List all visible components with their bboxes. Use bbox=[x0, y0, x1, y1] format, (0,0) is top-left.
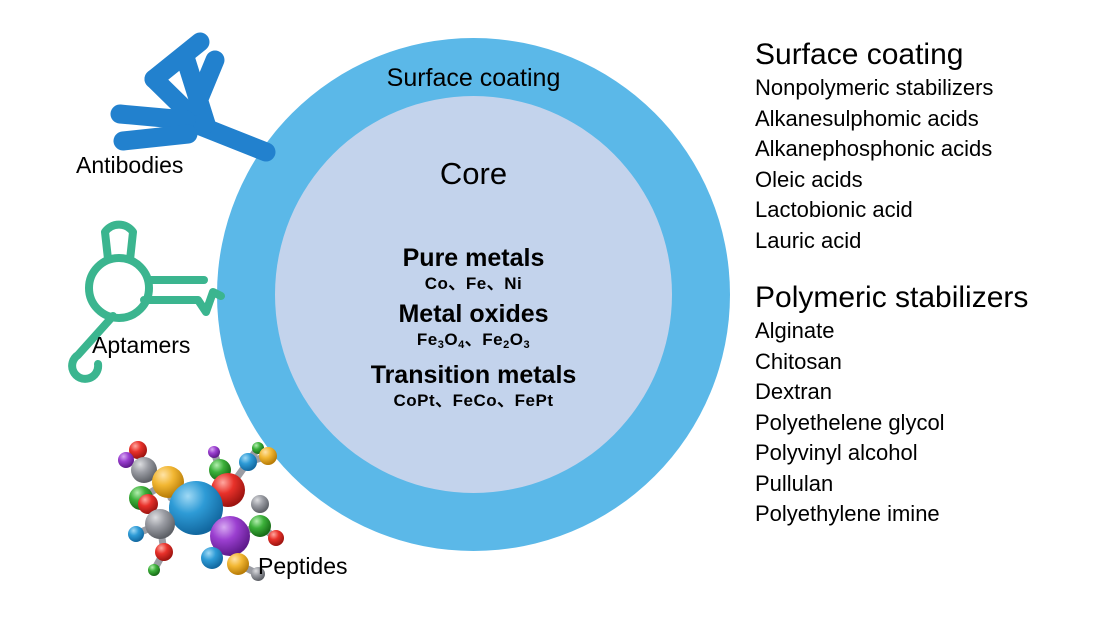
diagram-canvas: Surface coating Core Pure metals Co、Fe、N… bbox=[0, 0, 1109, 620]
surface-coating-label: Surface coating bbox=[217, 63, 730, 93]
coating-item: Alkanesulphomic acids bbox=[755, 104, 1105, 135]
core-group-title-0: Pure metals bbox=[275, 243, 672, 273]
section-heading-surface-coating: Surface coating bbox=[755, 36, 1105, 73]
coating-item: Nonpolymeric stabilizers bbox=[755, 73, 1105, 104]
coating-item: Lactobionic acid bbox=[755, 195, 1105, 226]
right-panel: Surface coating Nonpolymeric stabilizers… bbox=[755, 36, 1105, 530]
core-group-title-2: Transition metals bbox=[275, 360, 672, 390]
core-label: Core bbox=[275, 156, 672, 192]
aptamers-label: Aptamers bbox=[92, 332, 190, 359]
stabilizer-item: Polyvinyl alcohol bbox=[755, 438, 1105, 469]
core-group-items-0: Co、Fe、Ni bbox=[275, 273, 672, 295]
coating-item: Oleic acids bbox=[755, 165, 1105, 196]
stabilizer-item: Dextran bbox=[755, 377, 1105, 408]
core-group-title-1: Metal oxides bbox=[275, 299, 672, 329]
stabilizer-item: Pullulan bbox=[755, 469, 1105, 500]
section-heading-polymeric-stabilizers: Polymeric stabilizers bbox=[755, 279, 1105, 316]
peptides-label: Peptides bbox=[258, 553, 348, 580]
core-group-items-1: Fe3O4、Fe2O3 bbox=[275, 329, 672, 356]
antibodies-label: Antibodies bbox=[76, 152, 183, 179]
stabilizer-item: Polyethylene imine bbox=[755, 499, 1105, 530]
coating-item: Alkanephosphonic acids bbox=[755, 134, 1105, 165]
stabilizer-item: Alginate bbox=[755, 316, 1105, 347]
stabilizer-item: Chitosan bbox=[755, 347, 1105, 378]
core-composition-list: Pure metals Co、Fe、Ni Metal oxides Fe3O4、… bbox=[275, 243, 672, 412]
stabilizer-item: Polyethelene glycol bbox=[755, 408, 1105, 439]
coating-item: Lauric acid bbox=[755, 226, 1105, 257]
core-group-items-2: CoPt、FeCo、FePt bbox=[275, 390, 672, 412]
